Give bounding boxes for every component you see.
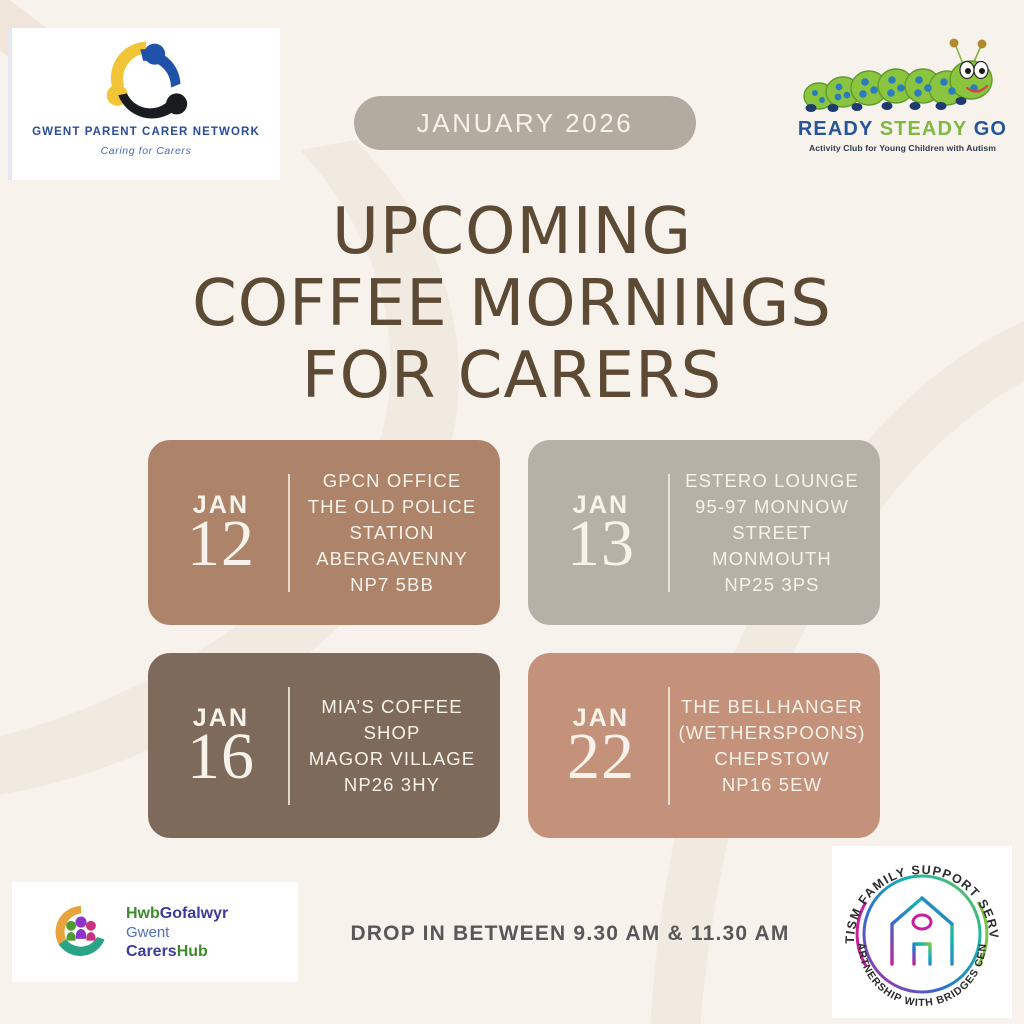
event-day: 13 (534, 514, 668, 574)
page-title: UPCOMING COFFEE MORNINGS FOR CARERS (0, 196, 1024, 412)
event-card[interactable]: JAN 13 ESTERO LOUNGE 95-97 MONNOW STREET… (528, 440, 880, 625)
event-date: JAN 22 (534, 705, 668, 787)
rsg-word-ready: READY (798, 118, 873, 140)
event-card[interactable]: JAN 16 MIA’S COFFEE SHOP MAGOR VILLAGE N… (148, 653, 500, 838)
hwb-text-carers: Carers (126, 943, 177, 960)
event-day: 16 (154, 727, 288, 787)
carers-hub-wordmark: HwbGofalwyr Gwent CarersHub (126, 904, 228, 961)
month-badge: JANUARY 2026 (354, 96, 696, 150)
event-venue: ESTERO LOUNGE 95-97 MONNOW STREET MONMOU… (670, 468, 874, 598)
hwb-text-hwb: Hwb (126, 905, 160, 922)
svg-text:AUTISM FAMILY SUPPORT SERVICE: AUTISM FAMILY SUPPORT SERVICE (832, 846, 1001, 944)
event-day: 12 (154, 514, 288, 574)
event-venue: THE BELLHANGER (WETHERSPOONS) CHEPSTOW N… (670, 694, 874, 798)
card-divider (288, 687, 290, 805)
gpcn-emblem-icon (98, 34, 194, 124)
poster-canvas: GWENT PARENT CARER NETWORK Caring for Ca… (0, 0, 1024, 1024)
carers-hub-line-3: CarersHub (126, 942, 228, 961)
headline-line-2: COFFEE MORNINGS (0, 268, 1024, 340)
gwent-parent-carer-network-logo: GWENT PARENT CARER NETWORK Caring for Ca… (12, 28, 280, 180)
drop-in-time-note: DROP IN BETWEEN 9.30 AM & 11.30 AM (300, 922, 840, 946)
event-day: 22 (534, 727, 668, 787)
gpcn-name-text: GWENT PARENT CARER NETWORK (12, 126, 280, 138)
card-divider (668, 474, 670, 592)
event-card[interactable]: JAN 22 THE BELLHANGER (WETHERSPOONS) CHE… (528, 653, 880, 838)
carers-hub-emblem-icon (50, 901, 112, 963)
event-venue: MIA’S COFFEE SHOP MAGOR VILLAGE NP26 3HY (290, 694, 494, 798)
rsg-wordmark: READY STEADY GO (795, 118, 1010, 141)
month-badge-label: JANUARY 2026 (417, 108, 634, 139)
afss-top-arc-text: AUTISM FAMILY SUPPORT SERVICE (832, 846, 1001, 944)
hwb-text-gofalwyr: Gofalwyr (160, 905, 228, 922)
event-date: JAN 13 (534, 492, 668, 574)
hwb-text-hub: Hub (177, 943, 208, 960)
gwent-carers-hub-logo: HwbGofalwyr Gwent CarersHub (12, 882, 298, 982)
event-date: JAN 16 (154, 705, 288, 787)
card-divider (288, 474, 290, 592)
headline-line-1: UPCOMING (0, 196, 1024, 268)
event-cards-grid: JAN 12 GPCN OFFICE THE OLD POLICE STATIO… (148, 440, 888, 838)
event-card[interactable]: JAN 12 GPCN OFFICE THE OLD POLICE STATIO… (148, 440, 500, 625)
event-venue: GPCN OFFICE THE OLD POLICE STATION ABERG… (290, 468, 494, 598)
carers-hub-line-1: HwbGofalwyr (126, 904, 228, 923)
ready-steady-go-logo: READY STEADY GO Activity Club for Young … (795, 38, 1010, 163)
rsg-subtitle: Activity Club for Young Children with Au… (795, 143, 1010, 153)
afss-badge-icon: AUTISM FAMILY SUPPORT SERVICE IN PARTNER… (832, 846, 1012, 1018)
rsg-word-steady: STEADY (880, 118, 967, 140)
card-divider (668, 687, 670, 805)
autism-family-support-service-logo: AUTISM FAMILY SUPPORT SERVICE IN PARTNER… (832, 846, 1012, 1018)
carers-hub-line-2: Gwent (126, 923, 228, 942)
caterpillar-icon (795, 38, 1005, 120)
headline-line-3: FOR CARERS (0, 340, 1024, 412)
event-date: JAN 12 (154, 492, 288, 574)
gpcn-tagline-text: Caring for Carers (12, 145, 280, 157)
rsg-word-go: GO (974, 118, 1007, 140)
